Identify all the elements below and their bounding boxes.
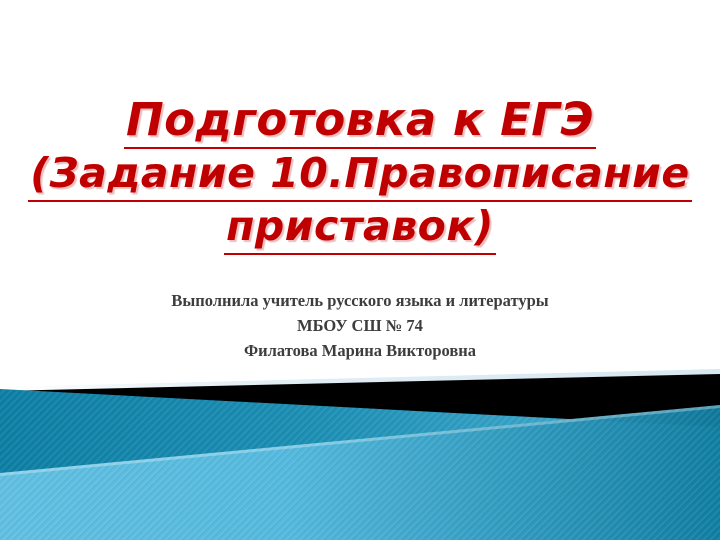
banner-svg xyxy=(0,365,720,540)
bottom-banner-graphic xyxy=(0,365,720,540)
title-line-3-text: приставок) xyxy=(224,202,496,255)
title-line-2: (Задание 10.Правописание xyxy=(0,149,720,202)
subtitle-line-author-name: Филатова Марина Викторовна xyxy=(0,338,720,363)
subtitle-line-author-role: Выполнила учитель русского языка и литер… xyxy=(0,288,720,313)
title-line-1-text: Подготовка к ЕГЭ xyxy=(124,96,596,149)
title-line-1: Подготовка к ЕГЭ xyxy=(0,96,720,149)
slide-title: Подготовка к ЕГЭ (Задание 10.Правописани… xyxy=(0,96,720,255)
subtitle-line-school: МБОУ СШ № 74 xyxy=(0,313,720,338)
presentation-slide: Подготовка к ЕГЭ (Задание 10.Правописани… xyxy=(0,0,720,540)
title-line-2-text: (Задание 10.Правописание xyxy=(28,149,691,202)
slide-subtitle: Выполнила учитель русского языка и литер… xyxy=(0,288,720,363)
title-line-3: приставок) xyxy=(0,202,720,255)
